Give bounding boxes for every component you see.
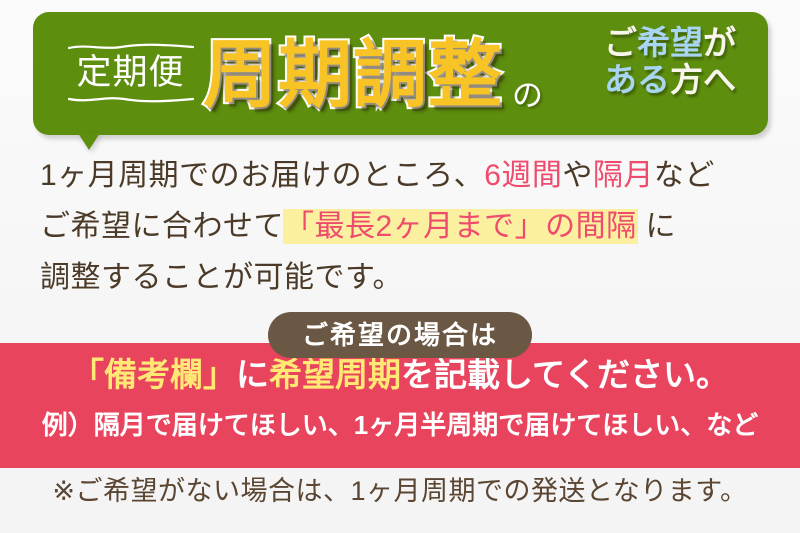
headline-title: 周期調整 [203,38,503,112]
body-seg: や [562,159,593,192]
headline-group: 周期調整 の [203,15,543,135]
header-subtext-seg: ご [604,24,637,61]
request-badge-label: ご希望の場合は [302,322,498,348]
body-line-1: 1ヶ月周期でのお届けのところ、6週間や隔月など [40,150,770,201]
body-seg: 1ヶ月周期でのお届けのところ、 [40,159,484,192]
instruction-example: 例）隔月で届けてほしい、1ヶ月半周期で届けてほしい、など [0,411,800,440]
speech-bubble-tail-icon [78,133,100,150]
header-subtext-line-2: ある方へ [604,61,764,98]
body-seg-emphasis: 隔月 [593,159,654,192]
wave-rule-bottom-icon [68,95,194,103]
body-paragraph: 1ヶ月周期でのお届けのところ、6週間や隔月など ご希望に合わせて「最長2ヶ月まで… [40,150,770,303]
subscription-label-group: 定期便 [58,30,203,116]
instruction-headline: 「備考欄」に希望周期を記載してください。 [0,357,800,393]
instruction-band: 「備考欄」に希望周期を記載してください。 例）隔月で届けてほしい、1ヶ月半周期で… [0,343,800,468]
body-seg: ご希望に合わせて [40,210,284,243]
body-seg: 調整することが可能です。 [40,261,403,294]
promo-banner: 定期便 周期調整 の ご希望が ある方へ 1ヶ月周期でのお届けのところ、6週間や… [0,0,800,533]
request-badge: ご希望の場合は [268,312,532,358]
headline-particle: の [512,80,543,135]
header-subtext-line-1: ご希望が [604,24,764,61]
body-seg-highlighted: 「最長2ヶ月まで」の間隔 [284,210,637,243]
header-subtext-seg: 方へ [670,61,736,98]
body-seg: など [654,159,715,192]
header-subtext-seg: が [703,24,736,61]
header-subtext-group: ご希望が ある方へ [604,24,764,99]
body-seg-emphasis: 6週間 [484,159,562,192]
body-line-2: ご希望に合わせて「最長2ヶ月まで」の間隔 に [40,201,770,252]
header-subtext-seg: 希望 [637,24,703,61]
wave-rule-top-icon [68,43,194,51]
instruction-seg-emphasis: 希望周期 [269,356,401,393]
instruction-seg-emphasis: 「備考欄」 [71,356,236,393]
footer-note: ※ご希望がない場合は、1ヶ月周期での発送となります。 [0,477,800,507]
body-seg: に [637,210,676,243]
instruction-seg: に [236,356,269,393]
header-section: 定期便 周期調整 の ご希望が ある方へ [0,0,800,150]
body-line-3: 調整することが可能です。 [40,252,770,303]
instruction-seg: を記載してください。 [401,356,729,393]
subscription-label: 定期便 [76,51,184,95]
header-subtext-seg: ある [604,61,670,98]
